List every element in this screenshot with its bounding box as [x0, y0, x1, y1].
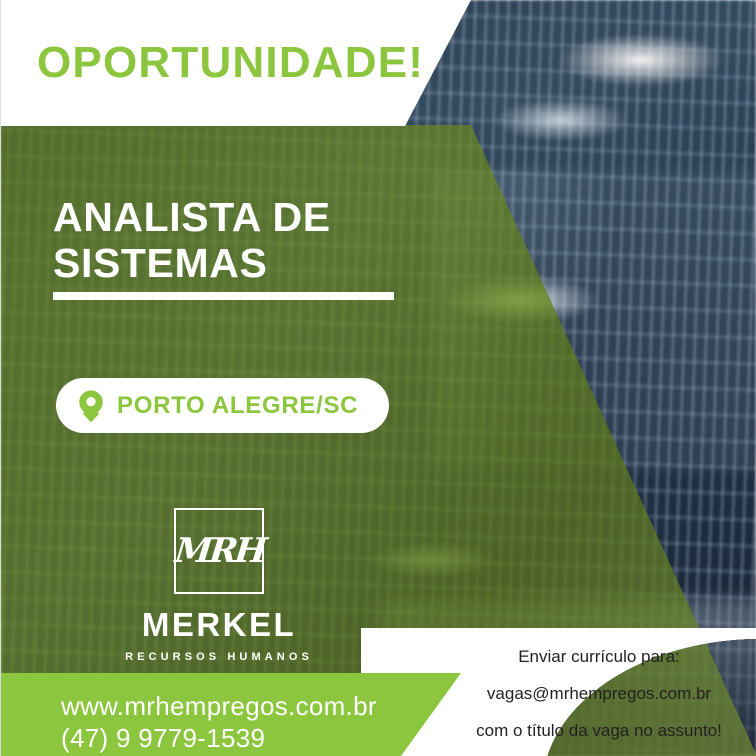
job-title-line-2: SISTEMAS: [53, 240, 473, 286]
footer-website[interactable]: www.mrhempregos.com.br: [61, 690, 377, 722]
contact-subject-note: com o título da vaga no assunto!: [441, 722, 756, 739]
headline-text: OPORTUNIDADE!: [37, 38, 424, 88]
contact-block: Enviar currículo para: vagas@mrhempregos…: [441, 648, 756, 739]
logo-tagline: RECURSOS HUMANOS: [125, 651, 313, 663]
contact-instruction: Enviar currículo para:: [441, 648, 756, 665]
job-title-line-1: ANALISTA DE: [53, 194, 473, 240]
map-pin-icon: [76, 389, 106, 423]
job-posting-poster: OPORTUNIDADE! ANALISTA DE SISTEMAS PORTO…: [0, 0, 756, 756]
footer-contact-block: www.mrhempregos.com.br (47) 9 9779-1539: [61, 690, 377, 754]
logo-company-name: MERKEL: [142, 606, 296, 644]
title-underline-rule: [53, 292, 394, 300]
logo-monogram-box: MRH: [174, 508, 264, 594]
location-pill: PORTO ALEGRE/SC: [56, 378, 389, 433]
location-label: PORTO ALEGRE/SC: [117, 392, 358, 420]
logo-monogram-text: MRH: [172, 531, 265, 571]
job-title: ANALISTA DE SISTEMAS: [53, 194, 473, 286]
footer-phone[interactable]: (47) 9 9779-1539: [61, 722, 377, 754]
company-logo: MRH MERKEL RECURSOS HUMANOS: [119, 508, 319, 663]
contact-email[interactable]: vagas@mrhempregos.com.br: [441, 685, 756, 702]
